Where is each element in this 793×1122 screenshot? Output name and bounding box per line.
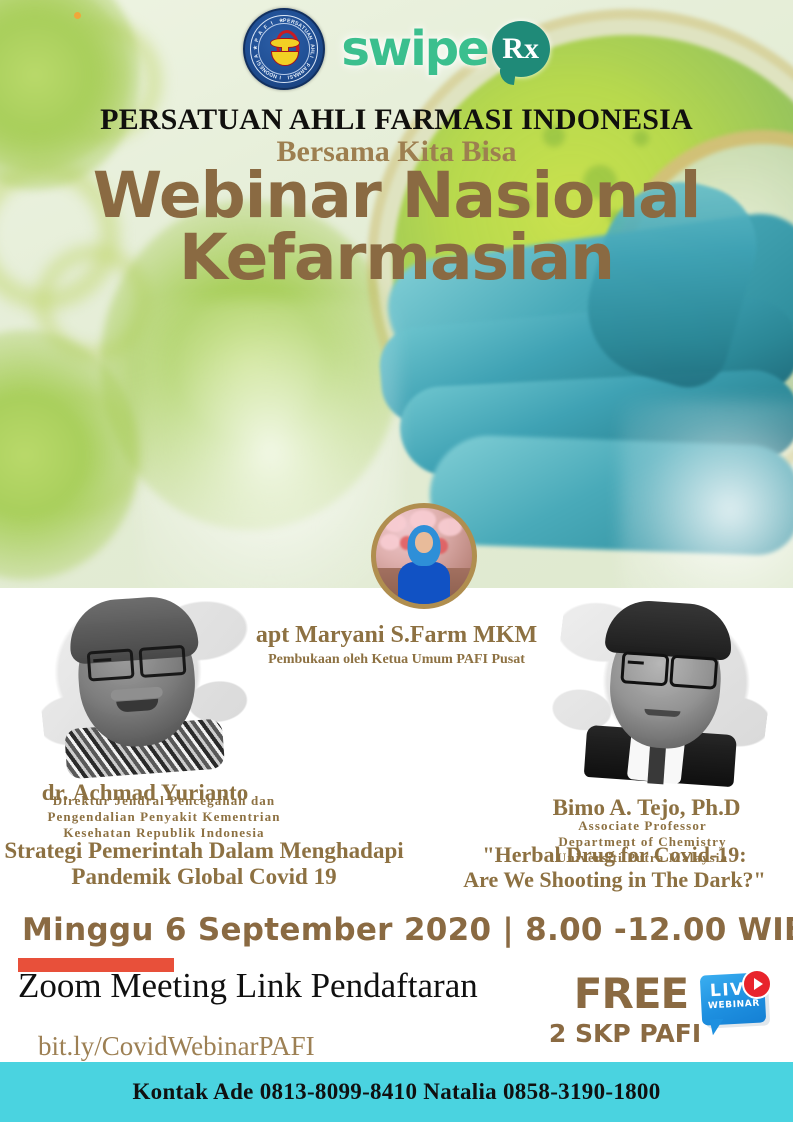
right-topic-line-1: "Herbal Drug for Covid-19:: [436, 843, 793, 868]
skp-credits-label: 2 SKP PAFI: [545, 1019, 705, 1048]
swiperx-logo: swipe Rx: [341, 21, 549, 77]
live-webinar-badge: LIVE WEBINAR: [699, 971, 775, 1045]
platform-registration-label: Zoom Meeting Link Pendaftaran: [18, 966, 478, 1006]
avatar-body: [398, 562, 450, 608]
contact-text: Kontak Ade 0813-8099-8410 Natalia 0858-3…: [132, 1079, 660, 1105]
right-speaker-topic: "Herbal Drug for Covid-19: Are We Shooti…: [436, 843, 793, 892]
schedule-datetime: Minggu 6 September 2020 | 8.00 -12.00 WI…: [22, 912, 793, 948]
title-line-2: Kefarmasian: [0, 227, 793, 289]
blossom-4: [380, 534, 400, 550]
avatar-face: [415, 532, 433, 553]
blossom-1: [384, 514, 406, 532]
page-title: Webinar Nasional Kefarmasian: [0, 165, 793, 288]
right-speaker-glasses-icon: [621, 651, 719, 684]
logo-row: PERSATUAN AHLI FARMASI INDONESIA ★ P A F…: [0, 8, 793, 90]
play-button-icon[interactable]: [742, 969, 772, 999]
swipe-i-dot-icon: [74, 12, 81, 19]
price-free-label: FREE: [556, 969, 706, 1018]
swipe-wordmark: swipe: [341, 25, 487, 73]
organization-title: PERSATUAN AHLI FARMASI INDONESIA: [0, 103, 793, 137]
right-topic-line-2: Are We Shooting in The Dark?": [436, 868, 793, 893]
pafi-seal-text: PERSATUAN AHLI FARMASI INDONESIA ★ P A F…: [245, 10, 323, 88]
bg-highlight-2: [620, 400, 793, 588]
left-topic-line-2: Pandemik Global Covid 19: [0, 864, 408, 890]
left-speaker-affiliation: Direktur Jendral Pencegahan dan Pengenda…: [0, 793, 328, 841]
pafi-logo-icon: PERSATUAN AHLI FARMASI INDONESIA ★ P A F…: [243, 8, 325, 90]
right-speaker-portrait: [570, 594, 754, 784]
center-speaker-avatar: [371, 503, 477, 609]
blossom-3: [438, 518, 462, 536]
bg-highlight-1: [140, 300, 400, 588]
contact-footer-bar: Kontak Ade 0813-8099-8410 Natalia 0858-3…: [0, 1062, 793, 1122]
rx-speech-bubble-icon: Rx: [492, 21, 550, 77]
left-speaker-portrait: [49, 590, 231, 776]
registration-link[interactable]: bit.ly/CovidWebinarPAFI: [38, 1031, 315, 1062]
webinar-poster: PERSATUAN AHLI FARMASI INDONESIA ★ P A F…: [0, 0, 793, 1122]
left-speaker-topic: Strategi Pemerintah Dalam Menghadapi Pan…: [0, 838, 408, 890]
rx-label: Rx: [502, 34, 539, 64]
left-topic-line-1: Strategi Pemerintah Dalam Menghadapi: [0, 838, 408, 864]
